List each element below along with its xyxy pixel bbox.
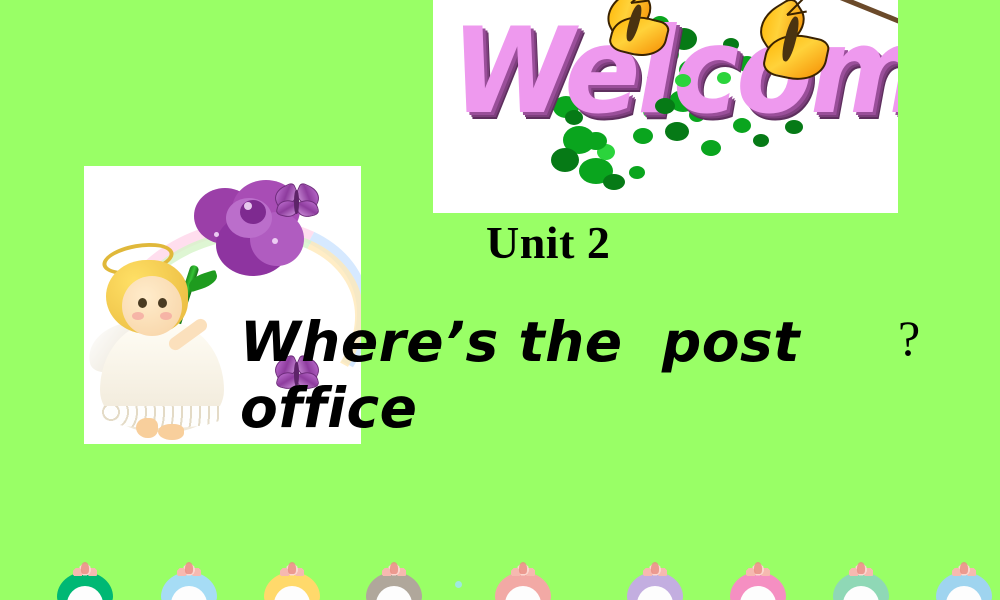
butterfly-body — [294, 190, 299, 214]
figure-crown — [952, 560, 976, 576]
decor-figure — [833, 560, 889, 600]
figure-crown — [382, 560, 406, 576]
decor-figure — [627, 560, 683, 600]
butterfly-icon — [601, 0, 687, 62]
bottom-decor-row — [0, 554, 1000, 600]
foliage-leaf — [603, 174, 625, 190]
decor-figure — [264, 560, 320, 600]
foliage-leaf-front — [585, 132, 607, 150]
figure-crown — [746, 560, 770, 576]
angel-eye — [138, 298, 147, 308]
rose-highlight — [214, 232, 219, 237]
figure-crown — [280, 560, 304, 576]
angel-face — [122, 276, 182, 336]
cherub-angel — [92, 250, 242, 440]
decor-figure — [495, 560, 551, 600]
foliage-leaf-front — [675, 74, 691, 87]
angel-eye — [158, 298, 167, 308]
decor-figure — [730, 560, 786, 600]
foliage-leaf — [629, 166, 645, 179]
figure-crown — [643, 560, 667, 576]
angel-cheek — [160, 312, 172, 320]
figure-crown — [511, 560, 535, 576]
slide-canvas: Welcome — [0, 0, 1000, 600]
butterfly-icon — [751, 6, 847, 92]
unit-title: Unit 2 — [486, 216, 610, 269]
decor-figure — [366, 560, 422, 600]
figure-crown — [849, 560, 873, 576]
angel-foot — [136, 418, 158, 438]
small-dot-decor — [455, 581, 462, 588]
decor-figure — [161, 560, 217, 600]
decor-figure — [936, 560, 992, 600]
angel-cheek — [132, 312, 144, 320]
rose-highlight — [244, 202, 252, 210]
angel-foot — [158, 424, 184, 440]
foliage-leaf-front — [565, 110, 583, 125]
welcome-banner-image: Welcome — [433, 0, 898, 213]
figure-crown — [177, 560, 201, 576]
main-title-text: Where’s the post office — [240, 309, 950, 441]
question-mark: ? — [898, 309, 920, 367]
decor-figure — [57, 560, 113, 600]
purple-butterfly-icon — [274, 184, 320, 220]
foliage-leaf-front — [655, 98, 675, 114]
figure-crown — [73, 560, 97, 576]
rose-highlight — [272, 238, 278, 244]
